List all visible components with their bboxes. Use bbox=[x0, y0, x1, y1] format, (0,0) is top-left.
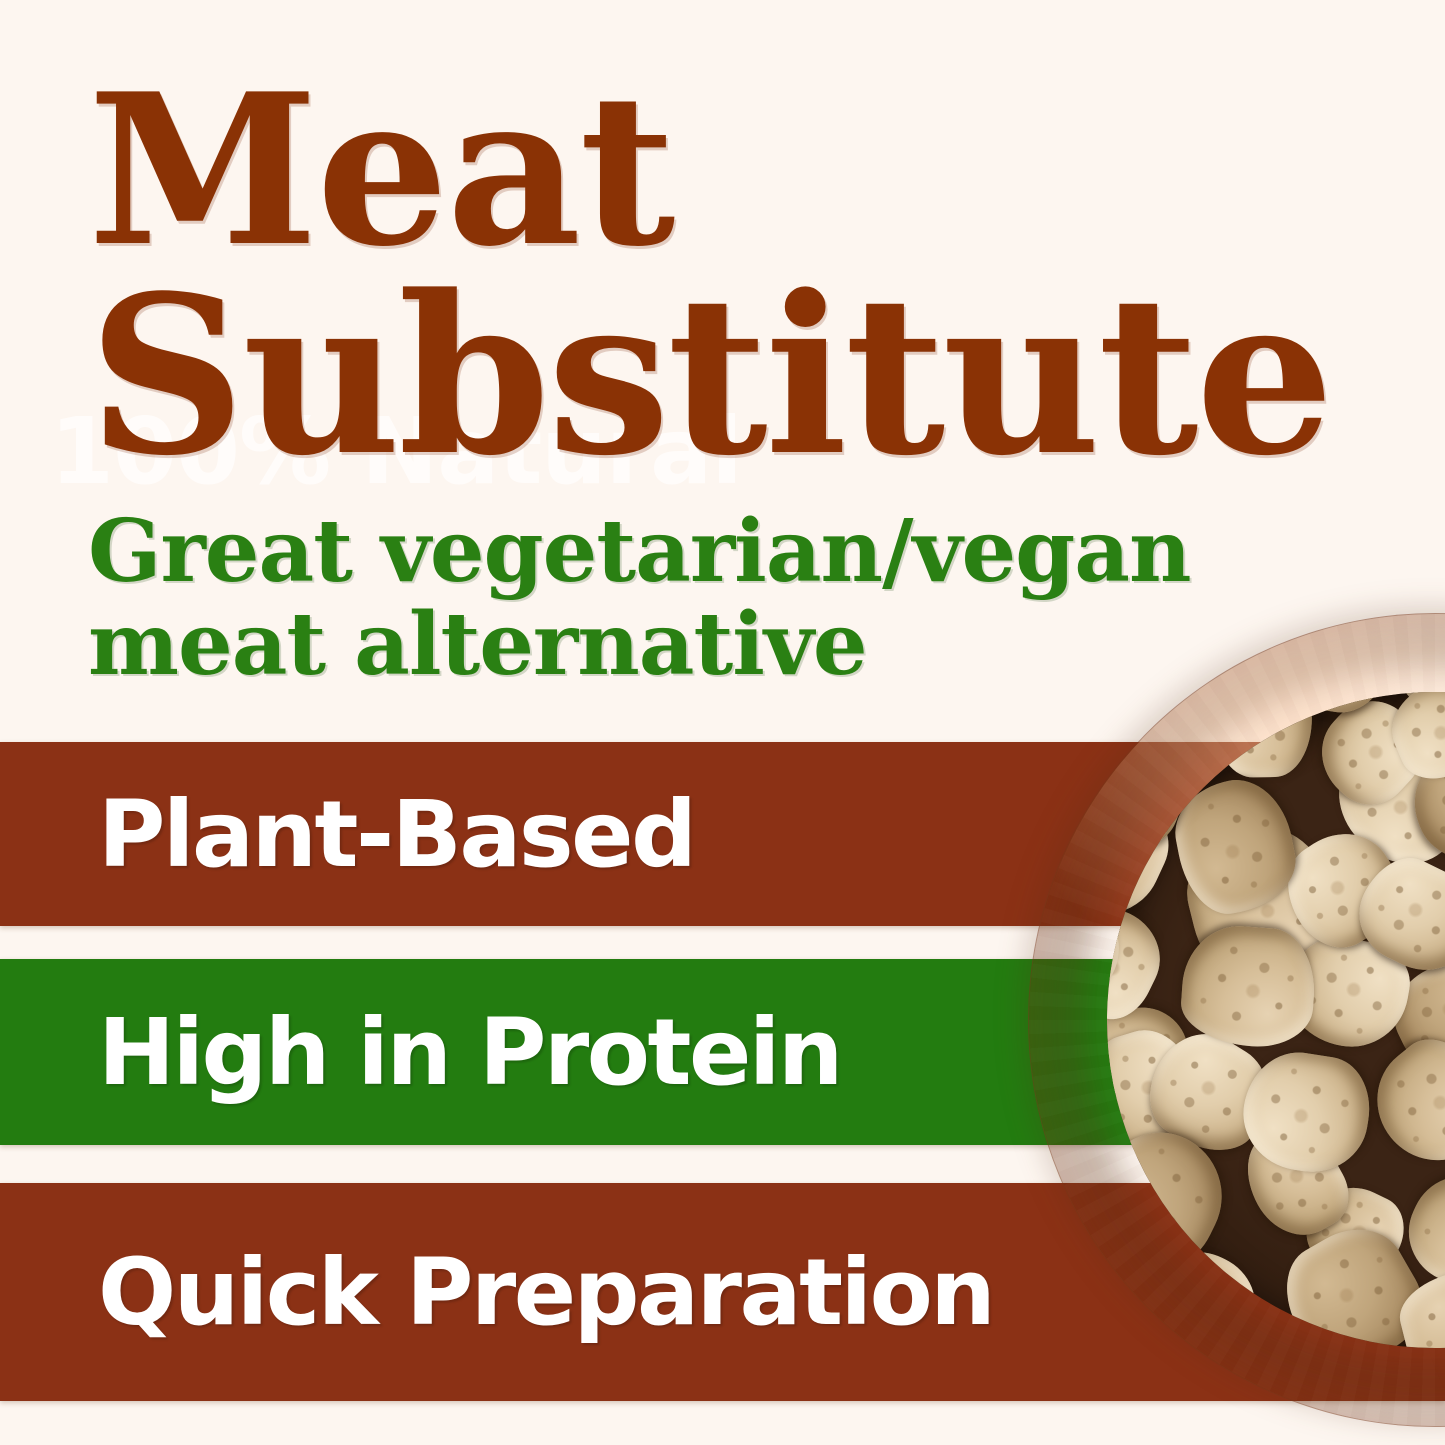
benefit-bar-plant-based: Plant-Based bbox=[0, 742, 1445, 926]
page-title: Meat Substitute bbox=[88, 72, 1331, 481]
subtitle-line-2: meat alternative bbox=[88, 599, 1388, 692]
benefit-bar-high-in-protein: High in Protein bbox=[0, 959, 1445, 1145]
promo-canvas: 100% Natural Meat Substitute Great veget… bbox=[0, 0, 1445, 1445]
headline-line-2: Substitute bbox=[88, 272, 1331, 481]
soy-chunk bbox=[1373, 692, 1445, 729]
benefit-label: Plant-Based bbox=[98, 781, 694, 888]
benefit-bar-quick-preparation: Quick Preparation bbox=[0, 1183, 1445, 1401]
soy-chunk bbox=[1278, 692, 1402, 720]
subtitle: Great vegetarian/vegan meat alternative bbox=[88, 506, 1388, 692]
benefit-label: Quick Preparation bbox=[98, 1239, 993, 1346]
benefit-label: High in Protein bbox=[98, 999, 841, 1106]
headline-line-1: Meat bbox=[88, 72, 1331, 272]
subtitle-line-1: Great vegetarian/vegan bbox=[88, 506, 1388, 599]
